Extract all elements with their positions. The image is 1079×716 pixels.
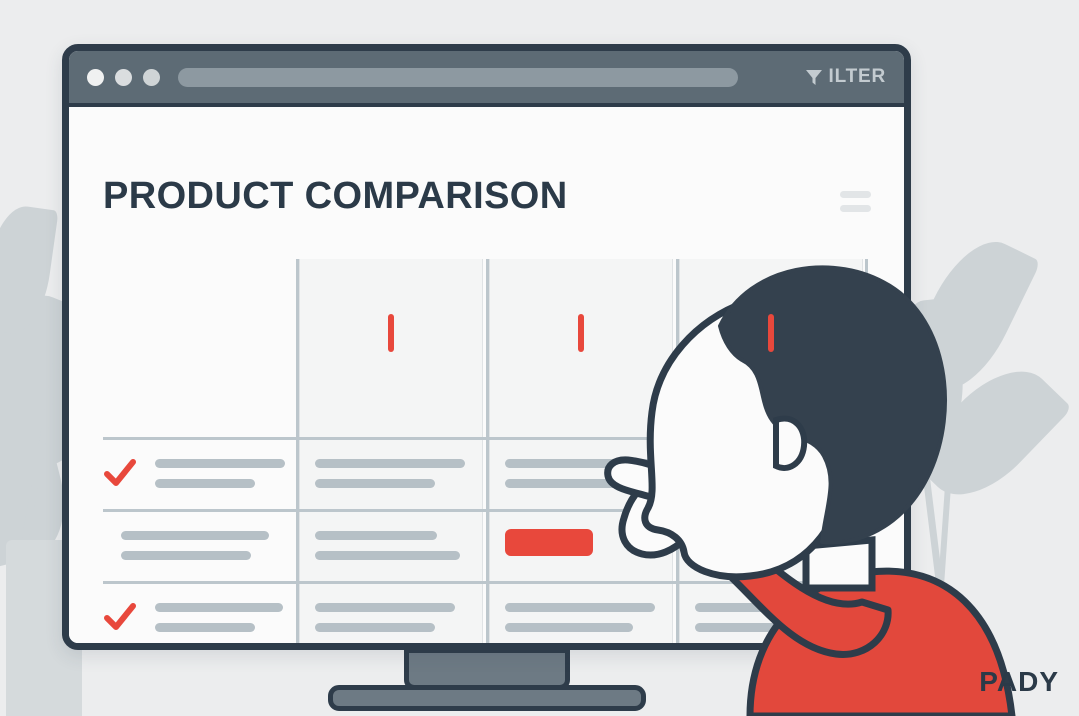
funnel-icon [804,67,824,87]
filter-label: ILTER [829,66,886,88]
table-cell [505,529,593,556]
window-controls[interactable] [87,69,160,86]
illustration-scene: ILTER PRODUCT COMPARISON Product [0,0,1079,716]
placeholder-bar [155,459,285,468]
placeholder-bar [315,623,435,632]
placeholder-bar [121,551,251,560]
placeholder-bar [155,479,255,488]
menu-line [840,205,871,212]
watermark: PADY [979,666,1059,698]
page-title: PRODUCT COMPARISON [103,175,568,218]
minimize-dot-icon[interactable] [115,69,132,86]
row-check-icon [103,601,137,635]
placeholder-bar [315,531,437,540]
placeholder-bar [155,623,255,632]
table-cell [155,603,283,643]
monitor-stand-base [328,685,646,711]
menu-line [840,191,871,198]
action-button[interactable] [505,529,593,556]
placeholder-bar [315,459,465,468]
placeholder-bar [315,603,455,612]
placeholder-bar [315,551,460,560]
placeholder-bar [121,531,269,540]
person-ear [776,419,804,468]
table-cell [315,531,460,571]
placeholder-bar [155,603,283,612]
maximize-dot-icon[interactable] [143,69,160,86]
row-check-icon [103,457,137,491]
table-cell [121,531,269,571]
browser-chrome: ILTER [69,51,904,107]
column-divider [296,259,299,650]
column-divider [486,259,489,650]
table-cell [155,459,285,499]
table-cell [315,459,465,499]
filter-button[interactable]: ILTER [788,66,886,88]
close-dot-icon[interactable] [87,69,104,86]
monitor-stand-neck [404,648,570,690]
address-bar-input[interactable] [178,68,738,87]
placeholder-bar [315,479,435,488]
person-figure [600,250,1079,716]
table-cell [315,603,455,643]
hamburger-menu-icon[interactable] [840,191,871,212]
